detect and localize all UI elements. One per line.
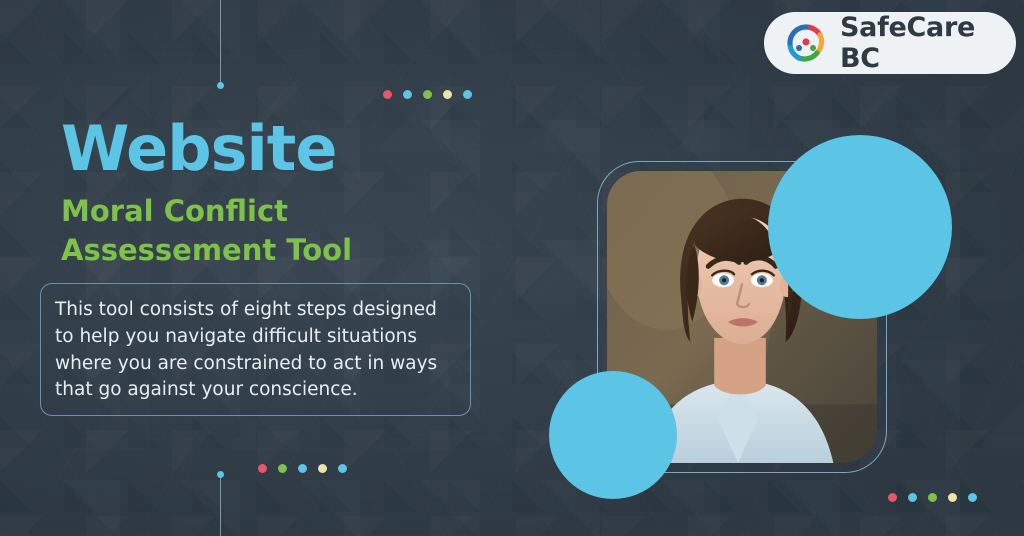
description-text: This tool consists of eight steps design…: [55, 297, 450, 404]
page-title: Website: [61, 118, 336, 180]
dot: [403, 90, 412, 99]
dot: [948, 493, 957, 502]
accent-circle-small: [549, 371, 677, 499]
dot: [423, 90, 432, 99]
dot-row-bottom-left: [258, 464, 347, 473]
safecare-logo-icon: [786, 23, 826, 63]
accent-circle-large: [768, 135, 952, 319]
dot: [318, 464, 327, 473]
decor-line-top: [220, 0, 221, 84]
dot: [258, 464, 267, 473]
dot: [928, 493, 937, 502]
dot: [443, 90, 452, 99]
dot: [463, 90, 472, 99]
decor-line-bottom: [220, 478, 221, 536]
dot-row-top: [383, 90, 472, 99]
brand-name: SafeCare BC: [840, 12, 1016, 74]
dot: [968, 493, 977, 502]
description-box: This tool consists of eight steps design…: [40, 283, 471, 416]
page-subtitle: Moral Conflict Assessement Tool: [61, 192, 491, 270]
slide-canvas: SafeCare BC Website Moral Conflict Asses…: [0, 0, 1024, 536]
dot: [338, 464, 347, 473]
dot: [278, 464, 287, 473]
brand-logo-pill[interactable]: SafeCare BC: [764, 12, 1016, 74]
decor-line-top-dot: [217, 82, 224, 89]
dot: [383, 90, 392, 99]
decor-line-bottom-dot: [217, 471, 224, 478]
dot: [298, 464, 307, 473]
dot-row-bottom-right: [888, 493, 977, 502]
dot: [888, 493, 897, 502]
dot: [908, 493, 917, 502]
